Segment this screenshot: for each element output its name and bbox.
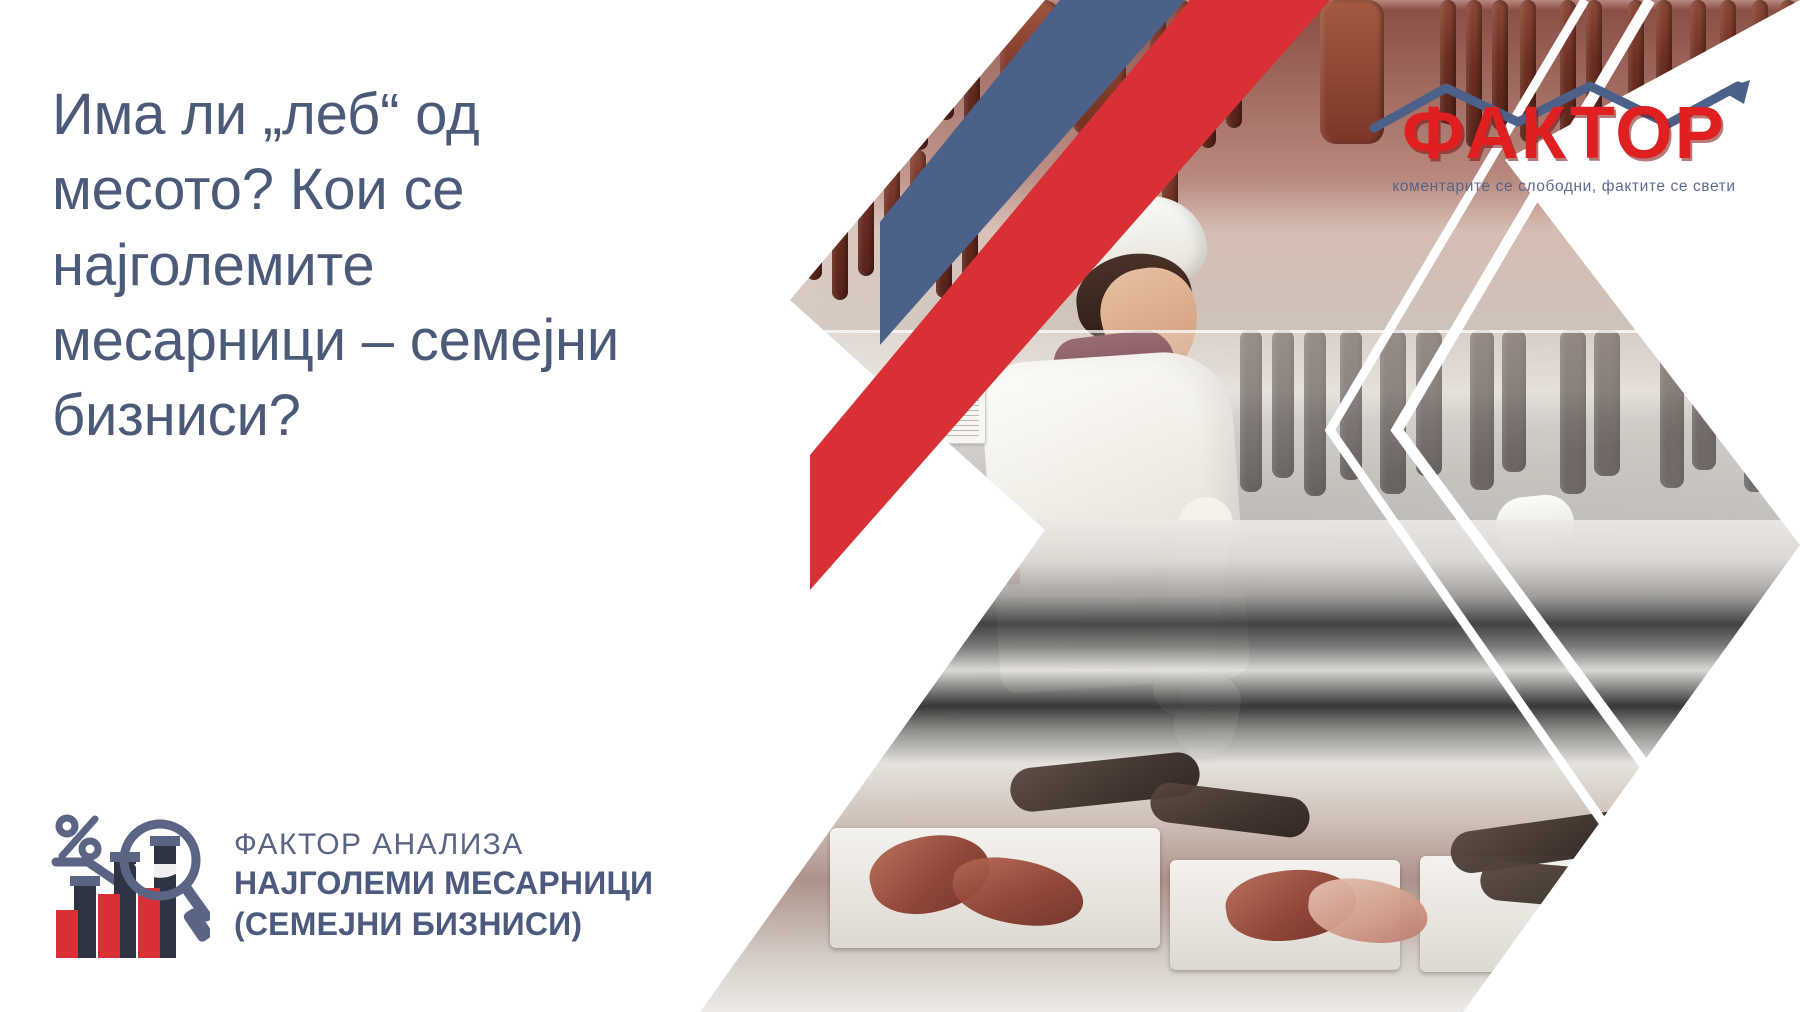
faktor-wordmark: ФАКТОР bbox=[1368, 96, 1760, 170]
faktor-tagline: коментарите се слободни, фактите се свет… bbox=[1368, 178, 1760, 196]
brand-text-block: ФАКТОР АНАЛИЗА НАЈГОЛЕМИ МЕСАРНИЦИ (СЕМЕ… bbox=[234, 827, 653, 946]
brand-line-najgolemi-mesarnici: НАЈГОЛЕМИ МЕСАРНИЦИ bbox=[234, 863, 653, 904]
price-tag-2 bbox=[856, 384, 986, 444]
analysis-brand-block: ФАКТОР АНАЛИЗА НАЈГОЛЕМИ МЕСАРНИЦИ (СЕМЕ… bbox=[50, 812, 653, 960]
faktor-logo[interactable]: ФАКТОР коментарите се слободни, фактите … bbox=[1368, 78, 1760, 204]
bar-chart-magnifier-icon bbox=[50, 812, 210, 960]
slide-root: Има ли „леб“ од месото? Кои се најголеми… bbox=[0, 0, 1800, 1012]
brand-line-faktor-analiza: ФАКТОР АНАЛИЗА bbox=[234, 827, 653, 864]
brand-line-semejni-biznisi: (СЕМЕЈНИ БИЗНИСИ) bbox=[234, 904, 653, 945]
page-title: Има ли „леб“ од месото? Кои се најголеми… bbox=[52, 77, 652, 454]
price-tag-1 bbox=[744, 388, 832, 442]
